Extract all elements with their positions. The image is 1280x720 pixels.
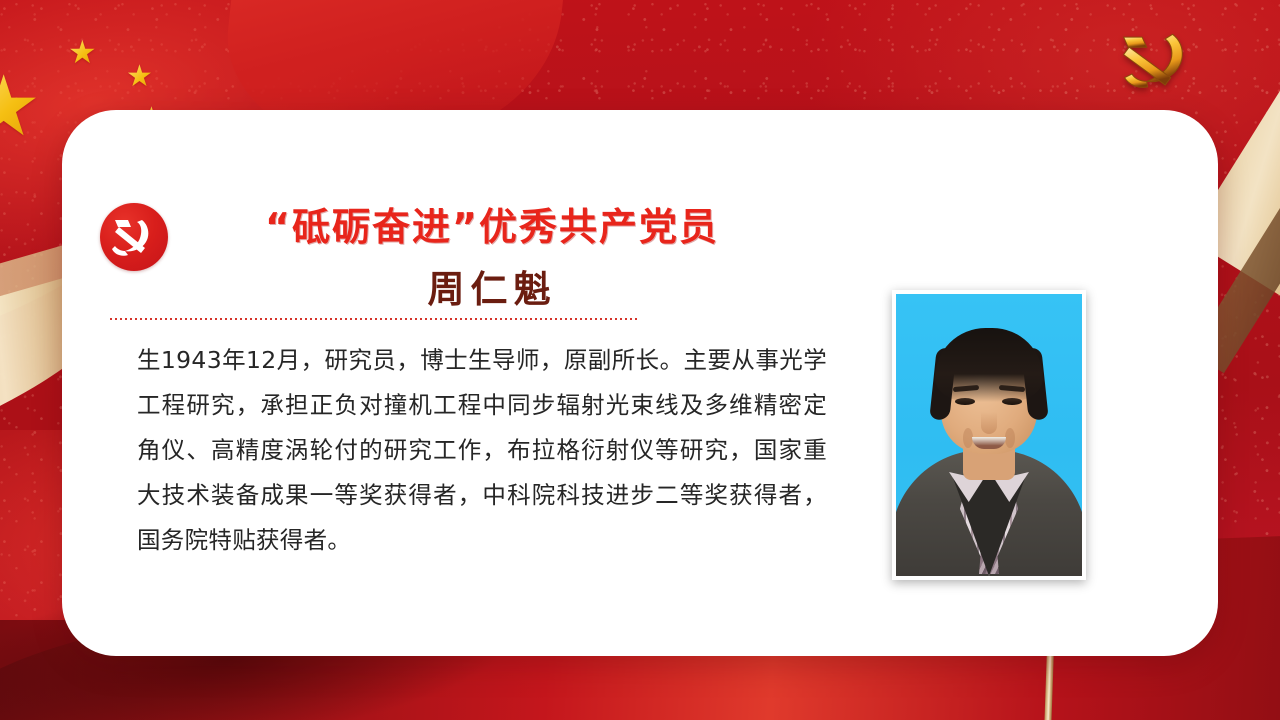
dotted-divider (110, 318, 640, 320)
content-card: “砥砺奋进”优秀共产党员 周仁魁 生1943年12月，研究员，博士生导师，原副所… (62, 110, 1218, 656)
flag-star-small-2: ★ (126, 62, 153, 92)
portrait-nose (981, 412, 997, 434)
portrait-eye-right (1002, 398, 1022, 405)
portrait-smile-line-right (1005, 428, 1015, 448)
cpc-badge-icon (100, 203, 168, 271)
cpc-hammer-sickle-emblem-icon (1108, 26, 1202, 98)
biography-text: 生1943年12月，研究员，博士生导师，原副所长。主要从事光学工程研究，承担正负… (137, 338, 827, 563)
title-block: “砥砺奋进”优秀共产党员 周仁魁 (182, 196, 802, 313)
portrait-hair-top (935, 328, 1043, 402)
flag-star-small-1: ★ (68, 36, 97, 68)
slide-root: ★ ★ ★ ★ ★ (0, 0, 1280, 720)
person-name: 周仁魁 (182, 259, 802, 313)
page-title: “砥砺奋进”优秀共产党员 (182, 196, 802, 251)
portrait-frame (892, 290, 1086, 580)
flag-star-large: ★ (0, 64, 41, 148)
portrait-eye-left (955, 398, 975, 405)
portrait-photo (896, 294, 1082, 576)
